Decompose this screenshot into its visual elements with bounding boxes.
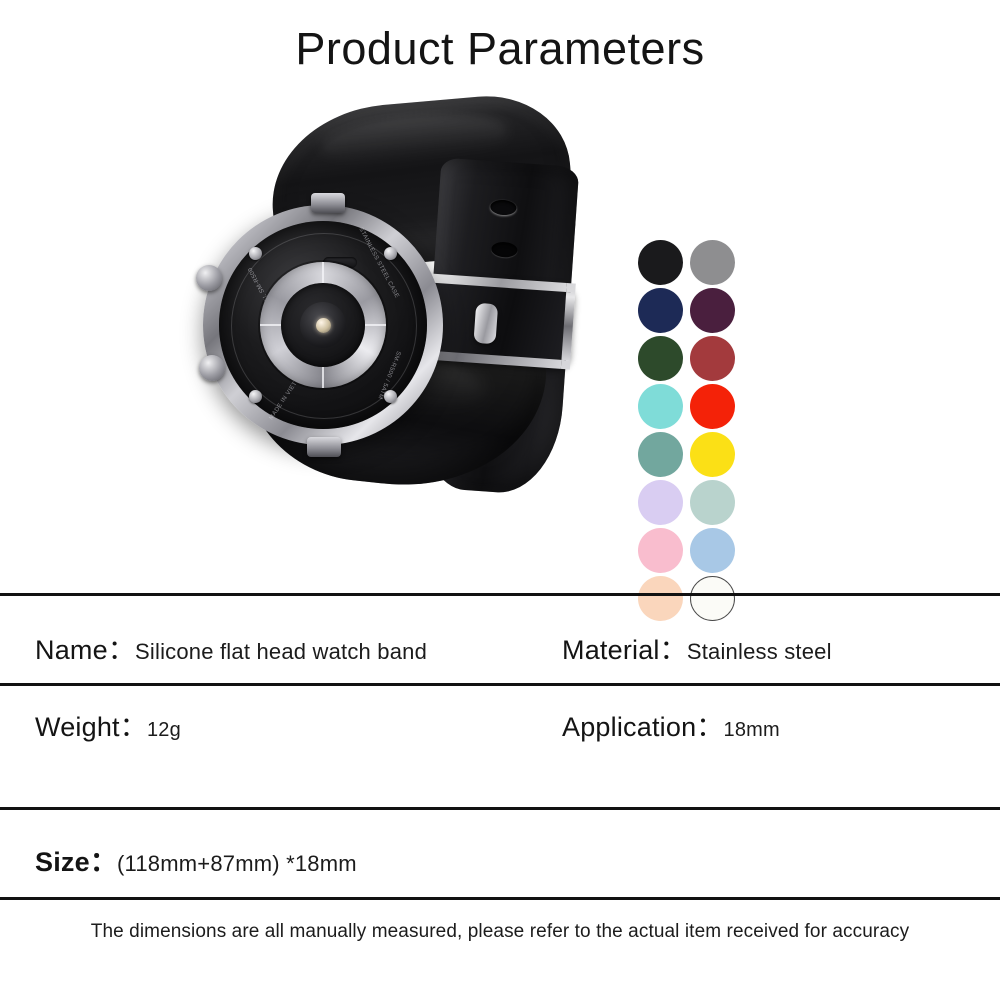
spec-label-application: Application： (562, 712, 724, 742)
color-swatch-light-blue[interactable] (690, 528, 735, 573)
color-swatch-dark-green[interactable] (638, 336, 683, 381)
heart-rate-sensor-ring (260, 262, 386, 388)
strap-hole (490, 199, 517, 216)
buckle-pin (473, 303, 498, 344)
color-swatch-sage-teal[interactable] (638, 432, 683, 477)
table-divider-row1 (0, 683, 1000, 686)
watch-lug-bottom (307, 437, 341, 457)
watch-side-button-upper (196, 265, 222, 291)
spec-label-weight: Weight： (35, 712, 147, 742)
watch-band-photo: STAINLESS STEEL CASE SM-R500 / 5ATM MADE… (185, 100, 635, 550)
spec-row-material: Material：Stainless steel (562, 628, 832, 667)
watch-lug-top (311, 193, 345, 213)
color-swatch-white[interactable] (690, 576, 735, 621)
color-swatch-grid[interactable] (638, 240, 742, 624)
spec-row-application: Application：18mm (562, 705, 780, 744)
spec-value-weight: 12g (147, 719, 181, 741)
spec-value-material: Stainless steel (687, 639, 832, 664)
watch-side-button-lower (199, 355, 225, 381)
page-title: Product Parameters (0, 24, 1000, 74)
color-swatch-lavender[interactable] (638, 480, 683, 525)
case-screw-top-left (249, 247, 262, 260)
sensor-led (316, 318, 331, 333)
color-swatch-pale-mint[interactable] (690, 480, 735, 525)
spec-value-size: (118mm+87mm) *18mm (117, 851, 357, 876)
spec-row-name: Name：Silicone flat head watch band (35, 628, 427, 667)
color-swatch-gray[interactable] (690, 240, 735, 285)
color-swatch-brick-red[interactable] (690, 336, 735, 381)
smartwatch-case: STAINLESS STEEL CASE SM-R500 / 5ATM MADE… (203, 205, 443, 445)
spec-label-name: Name： (35, 635, 135, 665)
spec-label-size: Size： (35, 847, 117, 877)
color-swatch-black[interactable] (638, 240, 683, 285)
color-swatch-plum-purple[interactable] (690, 288, 735, 333)
table-divider-top (0, 593, 1000, 596)
table-divider-bottom (0, 897, 1000, 900)
color-swatch-pink[interactable] (638, 528, 683, 573)
color-swatch-bright-red[interactable] (690, 384, 735, 429)
color-swatch-navy-blue[interactable] (638, 288, 683, 333)
case-screw-bottom-left (249, 390, 262, 403)
strap-hole (491, 241, 518, 258)
spec-label-material: Material： (562, 635, 687, 665)
table-divider-row2 (0, 807, 1000, 810)
hero-product-image: STAINLESS STEEL CASE SM-R500 / 5ATM MADE… (0, 95, 1000, 565)
product-parameters-page: Product Parameters (0, 0, 1000, 1000)
watch-back-panel: STAINLESS STEEL CASE SM-R500 / 5ATM MADE… (219, 221, 427, 429)
spec-value-application: 18mm (724, 719, 780, 741)
case-screw-top-right (384, 247, 397, 260)
color-swatch-turquoise[interactable] (638, 384, 683, 429)
case-screw-bottom-right (384, 390, 397, 403)
spec-row-size: Size：(118mm+87mm) *18mm (35, 840, 357, 879)
spec-row-weight: Weight：12g (35, 705, 181, 744)
measurement-disclaimer: The dimensions are all manually measured… (0, 921, 1000, 943)
spec-value-name: Silicone flat head watch band (135, 639, 427, 664)
color-swatch-peach[interactable] (638, 576, 683, 621)
color-swatch-yellow[interactable] (690, 432, 735, 477)
